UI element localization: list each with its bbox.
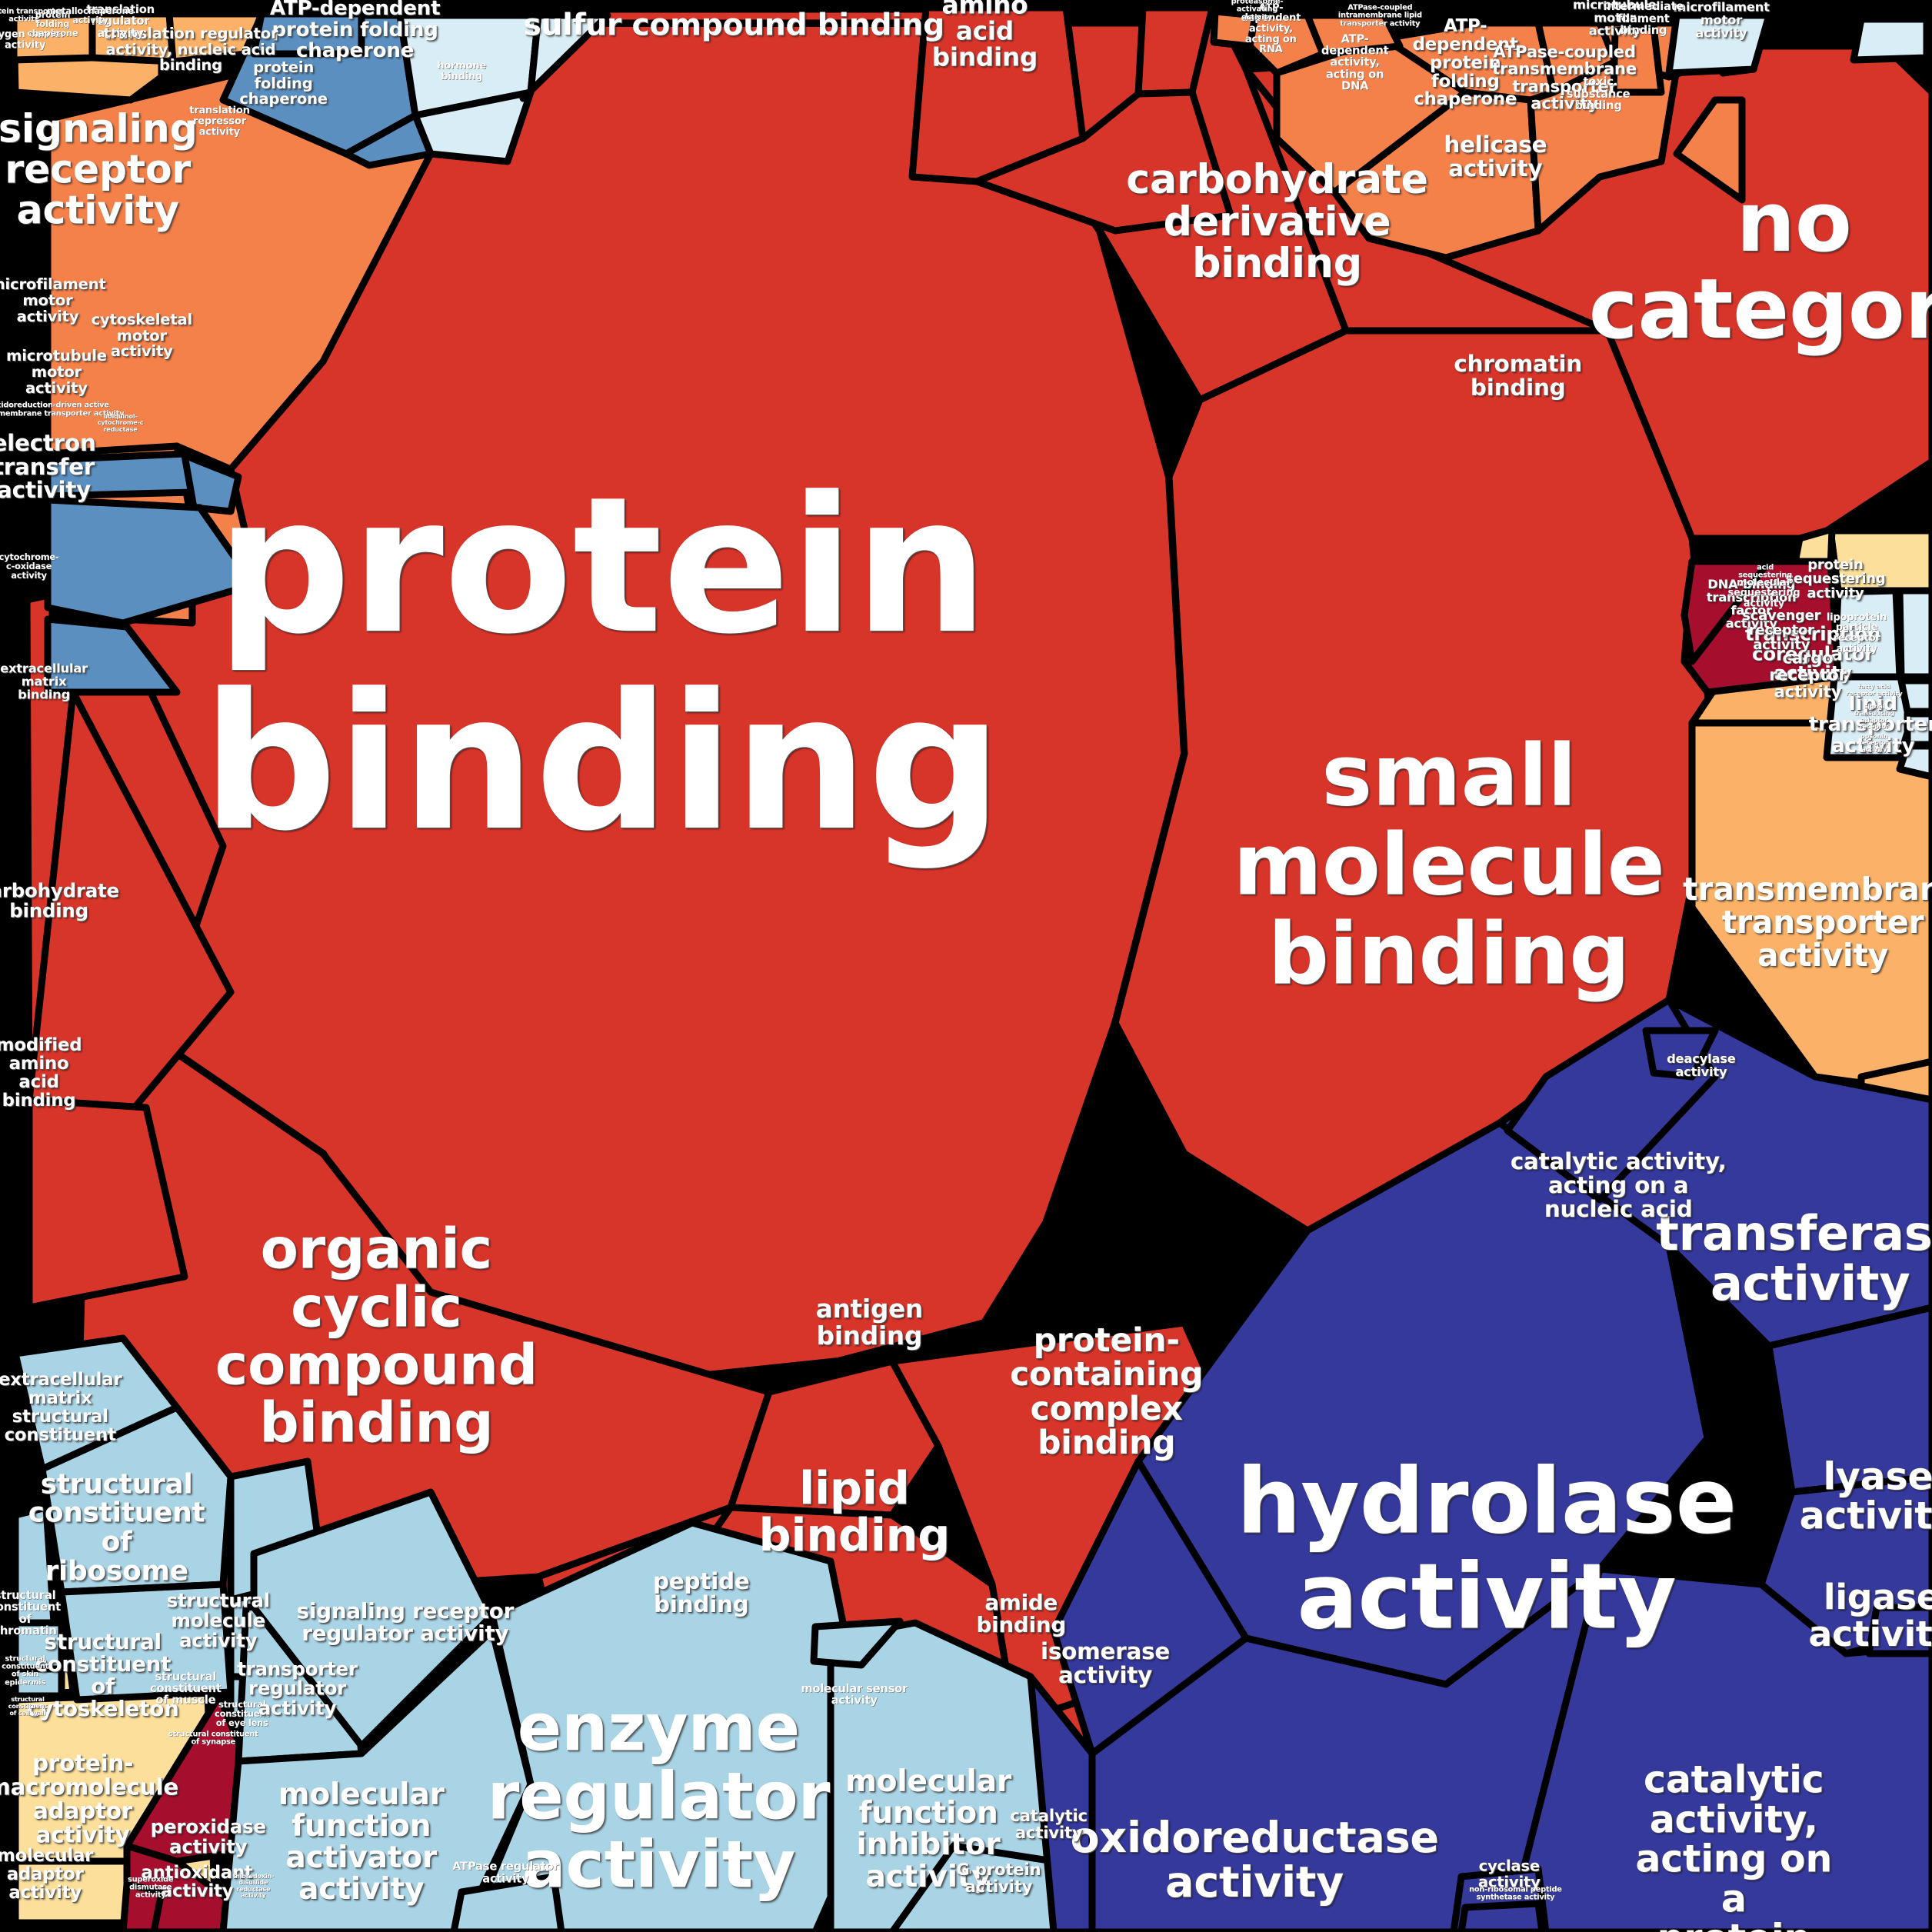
cell-tr-small-orange-block[interactable] (1614, 27, 1661, 92)
cell-non-ribosomal-peptide-synthetase[interactable] (1461, 1904, 1542, 1932)
cell-atpase-coupled-intramembrane-lipid-transporter[interactable] (1307, 15, 1400, 54)
cell-structural-constituent-of-cell-wall[interactable] (15, 1669, 62, 1696)
cell-peptidoglycan-muralytic[interactable] (1869, 1607, 1932, 1654)
cell-fatty-acid-receptor-activity[interactable] (1901, 681, 1932, 711)
cell-superoxide-dismutase-activity[interactable] (123, 1884, 162, 1932)
cell-scavenger-receptor-activity[interactable] (1834, 591, 1900, 677)
cell-translation-regulator-activity[interactable] (254, 14, 361, 54)
cell-signal-transducing-adaptor-receptor[interactable] (1907, 714, 1932, 744)
cell-protein-sequestering-activity[interactable] (1830, 531, 1932, 591)
cell-protein-transporter-activity-tl[interactable] (14, 14, 92, 60)
cell-lipoprotein-particle-receptor-activity[interactable] (1900, 591, 1932, 677)
cell-proteasome-activating-activity[interactable] (1214, 12, 1255, 46)
cell-structural-constituent-of-chromatin[interactable] (15, 1507, 54, 1627)
cell-protein-folding-chaperone-tl[interactable] (92, 14, 173, 62)
cell-opsonin-receptor-activity[interactable] (1900, 746, 1932, 777)
cell-oxidoreduction-driven-transporter[interactable] (48, 454, 192, 496)
cell-structural-constituent-of-skin-epidermis[interactable] (15, 1623, 62, 1669)
voronoi-polygon-layer (0, 0, 1932, 1932)
cell-structural-constituent-of-cytoskeleton[interactable] (62, 1584, 231, 1700)
cell-atp-dependent-protein-disaggregase[interactable] (1669, 15, 1769, 73)
voronoi-treemap-figure: protein bindingsmall molecule bindingorg… (0, 0, 1932, 1932)
cell-protein-folding-chaperone-tr[interactable] (1854, 19, 1927, 60)
